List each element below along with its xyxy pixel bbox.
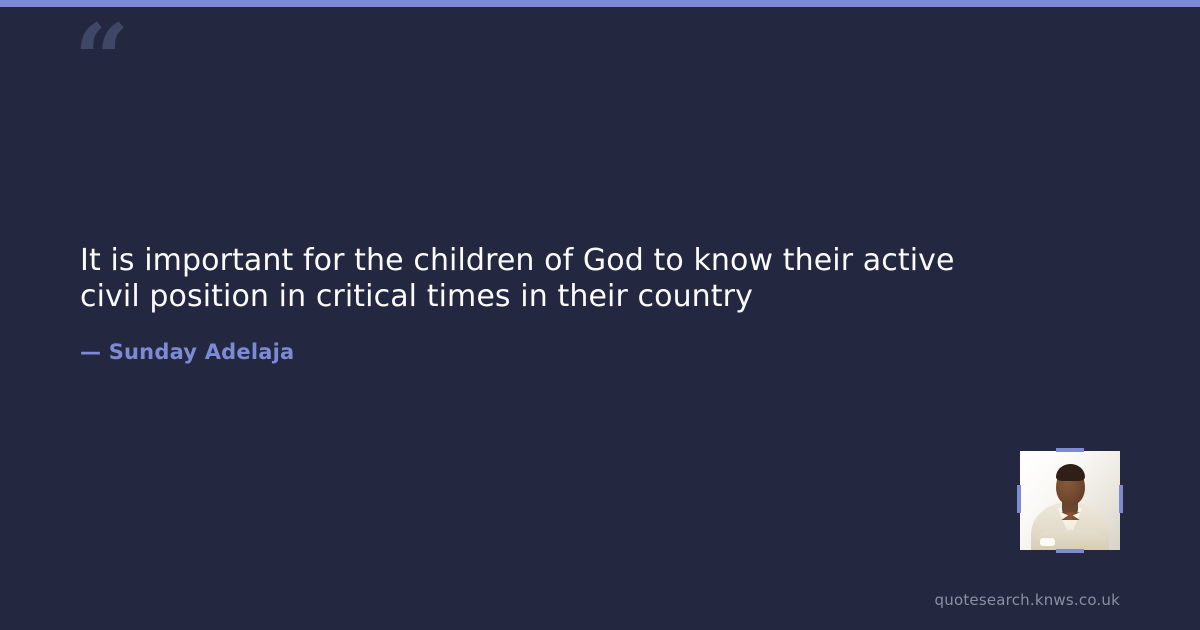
portrait-accent-left: [1017, 485, 1021, 513]
portrait-accent-bottom: [1056, 549, 1084, 553]
portrait-cuff: [1040, 538, 1055, 546]
author-portrait-image: [1020, 451, 1120, 550]
top-accent-bar: [0, 0, 1200, 7]
portrait-hair: [1056, 464, 1085, 481]
portrait-accent-top: [1056, 448, 1084, 452]
author-attribution: — Sunday Adelaja: [80, 339, 294, 365]
site-watermark: quotesearch.knws.co.uk: [935, 591, 1120, 609]
portrait-accent-right: [1119, 485, 1123, 513]
author-portrait: [1020, 451, 1120, 550]
quote-card: “ It is important for the children of Go…: [0, 0, 1200, 630]
opening-quote-icon: “: [74, 12, 127, 108]
quote-text: It is important for the children of God …: [80, 243, 960, 315]
